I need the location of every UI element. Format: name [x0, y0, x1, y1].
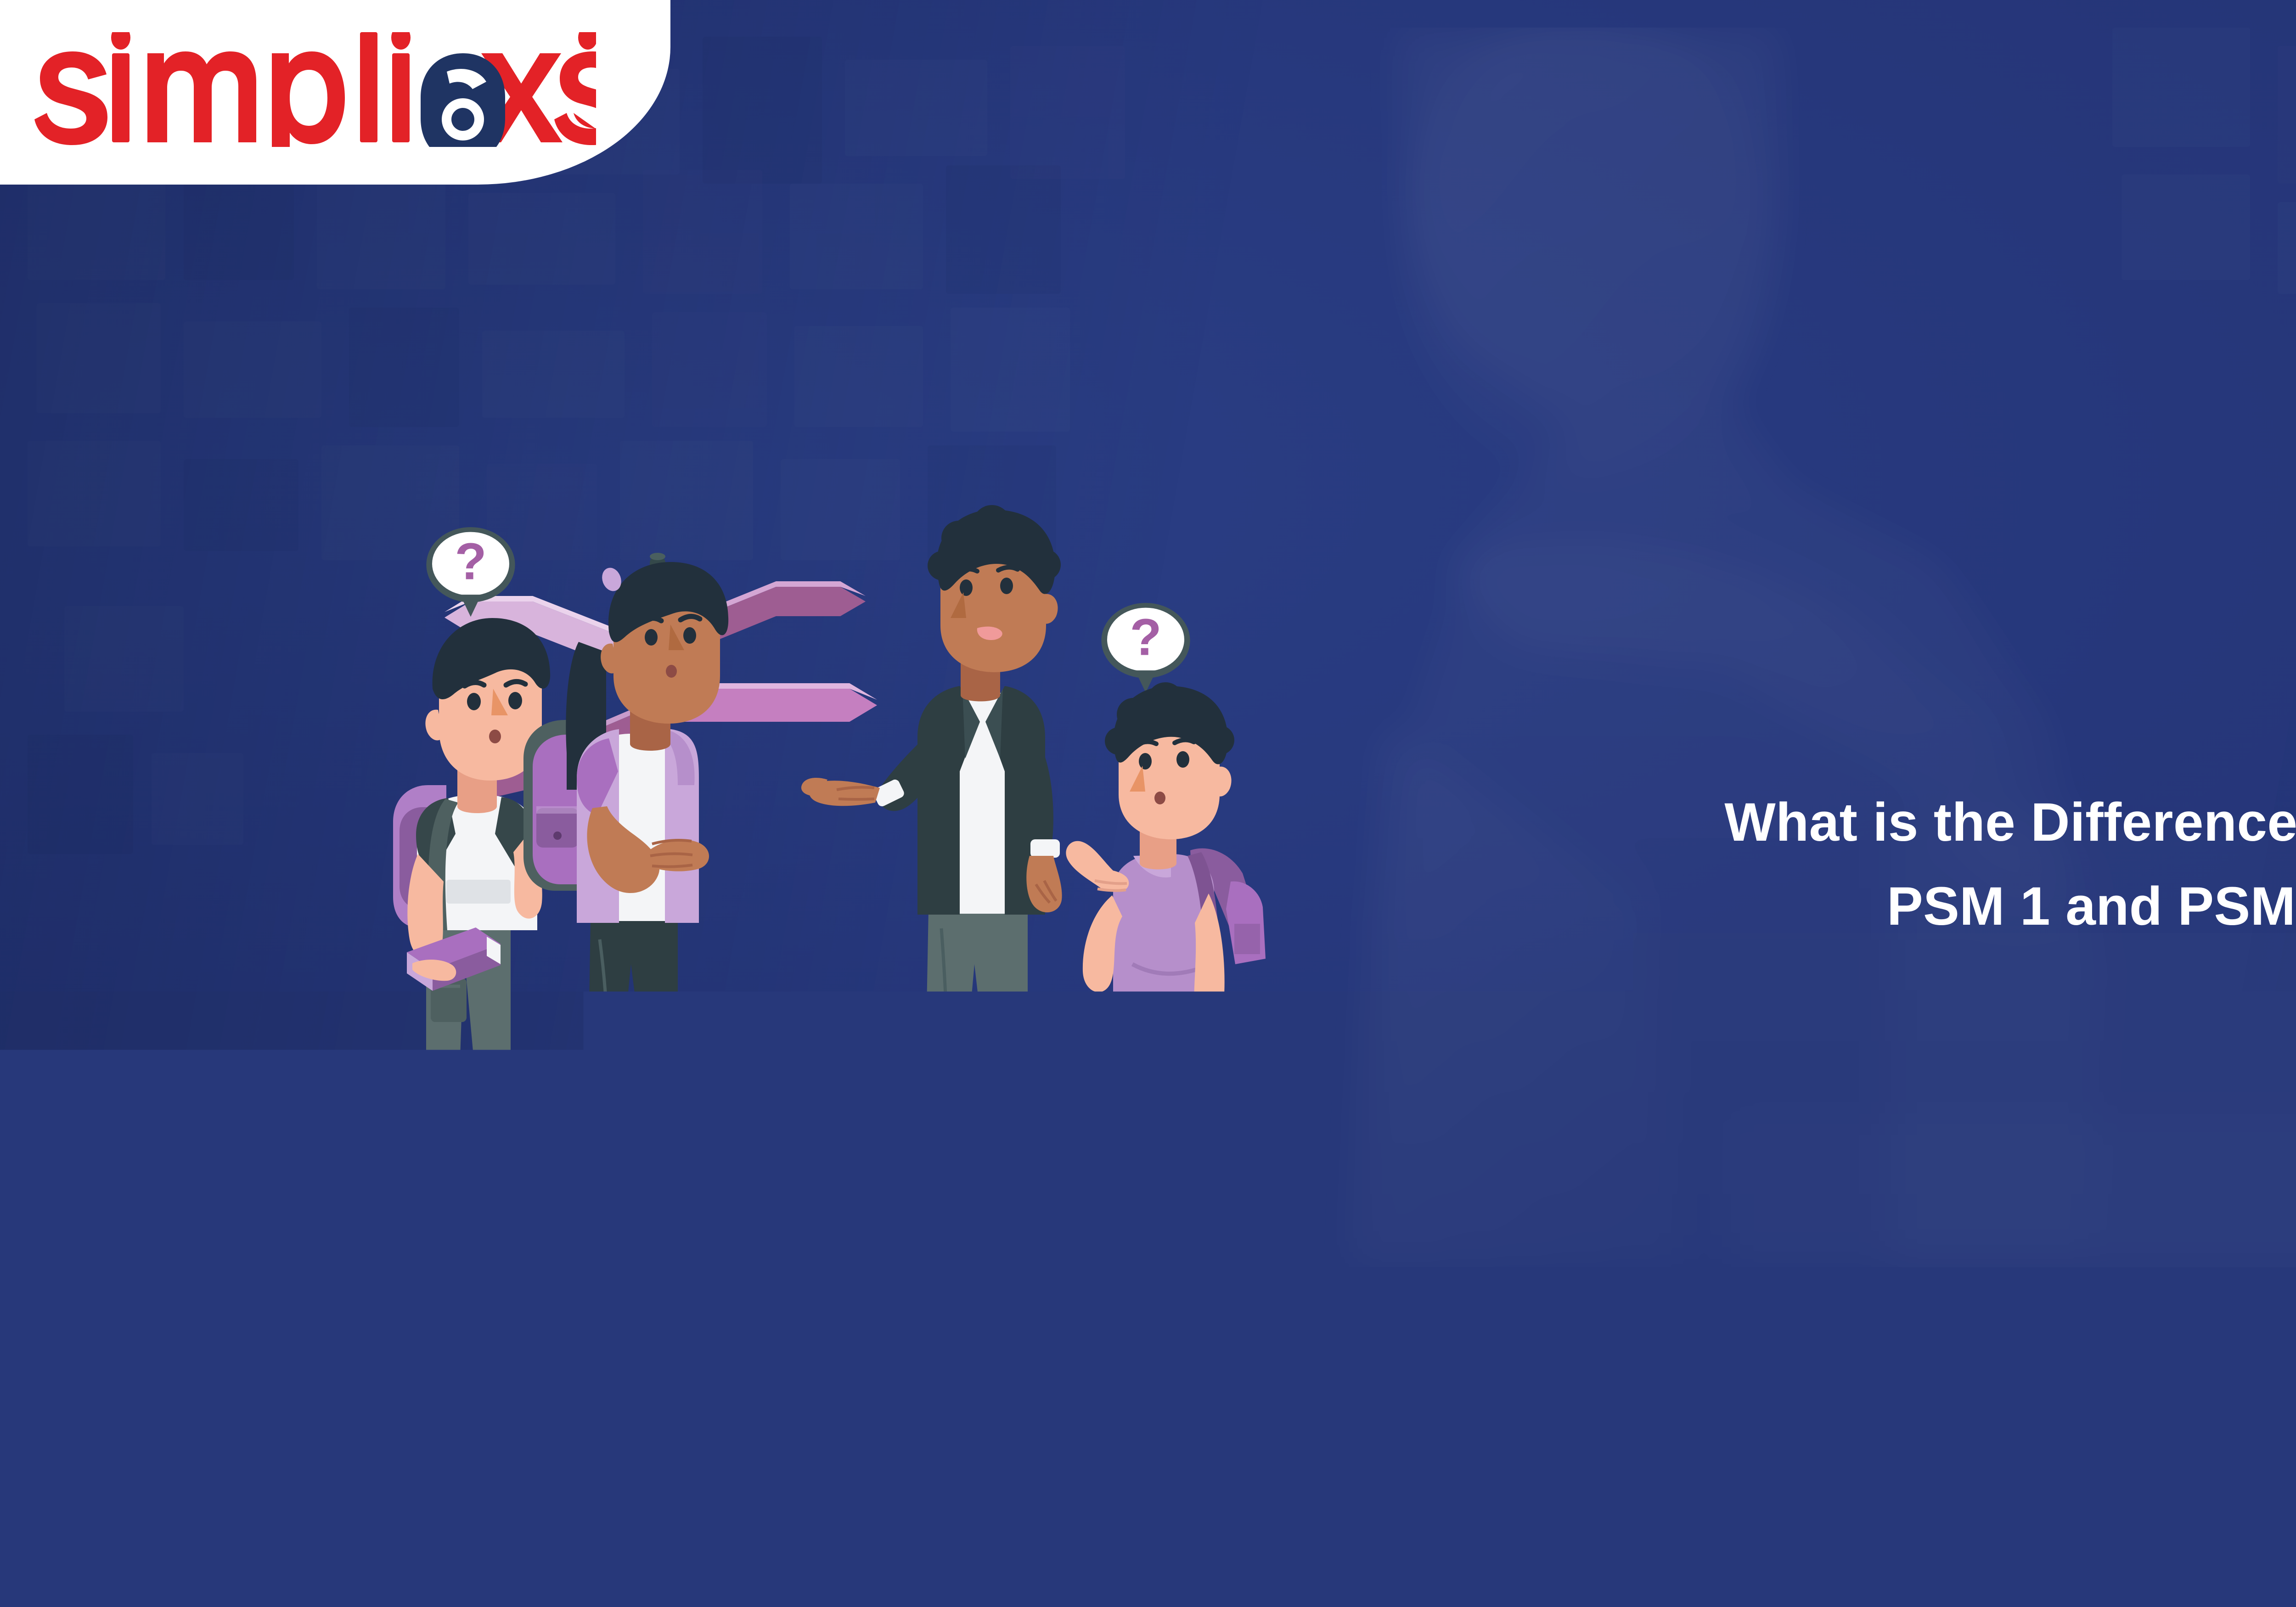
hero-title: What is the Difference Between PSM 1 and… [1529, 781, 2296, 949]
hero-title-line-2: PSM 1 and PSM 2? [1529, 865, 2296, 949]
simpliaxis-logo[interactable] [31, 32, 596, 147]
hero-title-line-1: What is the Difference Between [1724, 792, 2296, 853]
logo-icon [31, 32, 596, 147]
hero-banner: ? [0, 0, 2296, 1607]
logo-a-target [421, 53, 505, 147]
character-girl-thinking [523, 562, 728, 1126]
character-girl-with-backpack [1066, 603, 1266, 1253]
students-crossroads-illustration: ? [349, 450, 1359, 1313]
